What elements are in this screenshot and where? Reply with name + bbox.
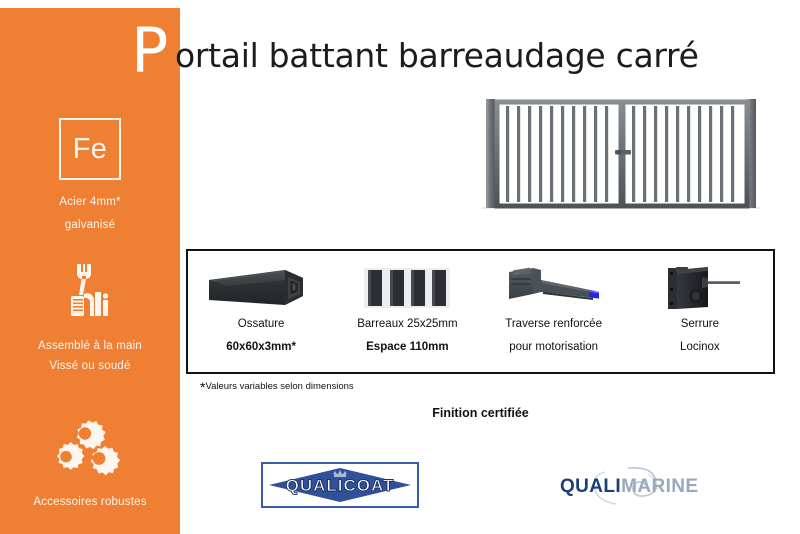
footnote: *Valeurs variables selon dimensions — [200, 381, 354, 395]
sidebar-feature-material-line1: Acier 4mm* — [0, 186, 180, 208]
page-title-dropcap: P — [131, 20, 168, 82]
footnote-text: Valeurs variables selon dimensions — [205, 381, 353, 392]
page-title: P ortail battant barreaudage carré — [120, 24, 780, 80]
sidebar-feature-material: Fe Acier 4mm* galvanisé — [0, 112, 180, 231]
gears-icon — [0, 412, 180, 486]
spec-item-lock: Serrure Locinox — [627, 251, 773, 372]
wrench-hand-icon — [0, 256, 180, 330]
sidebar-feature-assembly-line1: Assemblé à la main — [0, 330, 180, 352]
spec-item-frame-line1: Ossature — [238, 316, 285, 333]
page-title-text: ortail battant barreaudage carré — [175, 39, 699, 72]
certification-heading: Finition certifiée — [186, 406, 775, 420]
spec-item-lock-line1: Serrure — [681, 316, 719, 333]
sidebar-feature-assembly: Assemblé à la main Vissé ou soudé — [0, 256, 180, 372]
gate-leaf-right — [623, 102, 747, 206]
gate-leaf-left — [497, 102, 621, 206]
spec-item-motor: Traverse renforcée pour motorisation — [481, 251, 627, 372]
motor-actuator-icon — [499, 260, 609, 316]
spec-item-bars-line2: Espace 110mm — [366, 333, 448, 356]
spec-item-frame: Ossature 60x60x3mm* — [188, 251, 334, 372]
spec-item-motor-line1: Traverse renforcée — [505, 316, 602, 333]
product-datasheet-page: Fe Acier 4mm* galvanisé — [0, 0, 800, 534]
spec-item-bars-line1: Barreaux 25x25mm — [357, 316, 457, 333]
spec-item-bars: Barreaux 25x25mm Espace 110mm — [334, 251, 480, 372]
spec-item-lock-line2: Locinox — [680, 333, 720, 356]
spec-item-frame-line2: 60x60x3mm* — [226, 333, 296, 356]
qualicoat-logo: QUALICOAT — [261, 462, 419, 508]
fe-element-box-icon: Fe — [0, 112, 180, 186]
steel-frame-profile-icon — [207, 260, 315, 316]
square-bars-icon — [358, 260, 456, 316]
qualimarine-wordmark: QUALIMARINE — [560, 476, 698, 497]
fe-symbol-label: Fe — [73, 135, 108, 164]
spec-item-motor-line2: pour motorisation — [509, 333, 598, 356]
qualimarine-logo: QUALIMARINE — [554, 464, 714, 508]
sidebar-feature-material-line2: galvanisé — [0, 208, 180, 231]
footnote-star: * — [200, 379, 205, 395]
lock-icon — [652, 260, 748, 316]
double-swing-gate-illustration — [468, 88, 774, 224]
specs-box: Ossature 60x60x3mm* — [186, 249, 775, 374]
sidebar-feature-accessories-line1: Accessoires robustes — [0, 486, 180, 508]
gate-lock-handle — [615, 150, 631, 155]
sidebar-feature-assembly-line2: Vissé ou soudé — [0, 352, 180, 372]
sidebar-feature-accessories: Accessoires robustes — [0, 412, 180, 508]
qualicoat-wordmark: QUALICOAT — [286, 476, 395, 495]
